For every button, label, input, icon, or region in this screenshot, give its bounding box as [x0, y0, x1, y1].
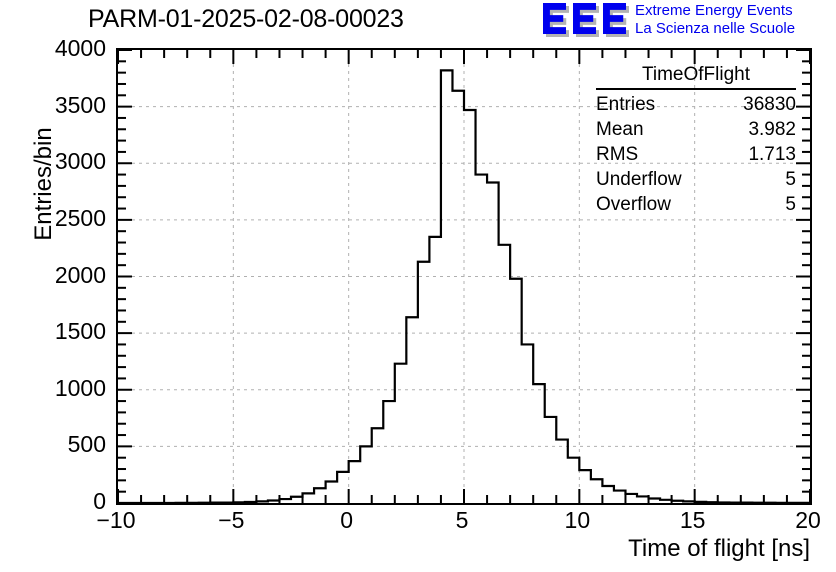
stats-row-key: Overflow — [596, 192, 671, 217]
x-tick-label: 10 — [542, 507, 612, 533]
y-tick-label: 2000 — [10, 262, 106, 288]
x-tick-label: 5 — [427, 507, 497, 533]
eee-logo-text: Extreme Energy Events La Scienza nelle S… — [635, 1, 835, 41]
stats-row: RMS1.713 — [596, 142, 796, 167]
y-tick-label: 500 — [10, 431, 106, 457]
x-tick-label: 0 — [312, 507, 382, 533]
y-tick-label: 4000 — [10, 35, 106, 61]
stats-box-rows: Entries36830Mean3.982RMS1.713Underflow5O… — [596, 92, 796, 217]
stats-box: TimeOfFlight Entries36830Mean3.982RMS1.7… — [596, 62, 796, 217]
histogram-canvas: PARM-01-2025-02-08-00023 Extreme Energy … — [0, 0, 836, 572]
x-tick-label: 20 — [773, 507, 836, 533]
stats-row-value: 5 — [785, 192, 796, 217]
x-axis-title: Time of flight [ns] — [560, 534, 810, 564]
stats-row-key: Underflow — [596, 167, 682, 192]
y-tick-label: 0 — [10, 488, 106, 514]
eee-logo-line2: La Scienza nelle Scuole — [635, 19, 795, 38]
stats-row-key: RMS — [596, 142, 638, 167]
x-tick-label: 15 — [658, 507, 728, 533]
page-title: PARM-01-2025-02-08-00023 — [88, 4, 508, 34]
stats-row-key: Entries — [596, 92, 655, 117]
stats-row-value: 1.713 — [748, 142, 796, 167]
stats-row: Entries36830 — [596, 92, 796, 117]
eee-logo-line1: Extreme Energy Events — [635, 1, 793, 20]
stats-row: Overflow5 — [596, 192, 796, 217]
y-tick-label: 1500 — [10, 318, 106, 344]
y-tick-label: 2500 — [10, 205, 106, 231]
stats-row-value: 36830 — [743, 92, 796, 117]
stats-box-title: TimeOfFlight — [596, 62, 796, 88]
y-tick-label: 1000 — [10, 375, 106, 401]
stats-row-key: Mean — [596, 117, 644, 142]
stats-row: Mean3.982 — [596, 117, 796, 142]
stats-row-value: 5 — [785, 167, 796, 192]
x-tick-label: −5 — [196, 507, 266, 533]
y-tick-label: 3500 — [10, 92, 106, 118]
y-tick-label: 3000 — [10, 148, 106, 174]
stats-box-rule — [596, 88, 796, 90]
eee-logo: Extreme Energy Events La Scienza nelle S… — [543, 1, 835, 41]
eee-logo-mark-icon — [543, 3, 631, 37]
stats-row-value: 3.982 — [748, 117, 796, 142]
stats-row: Underflow5 — [596, 167, 796, 192]
